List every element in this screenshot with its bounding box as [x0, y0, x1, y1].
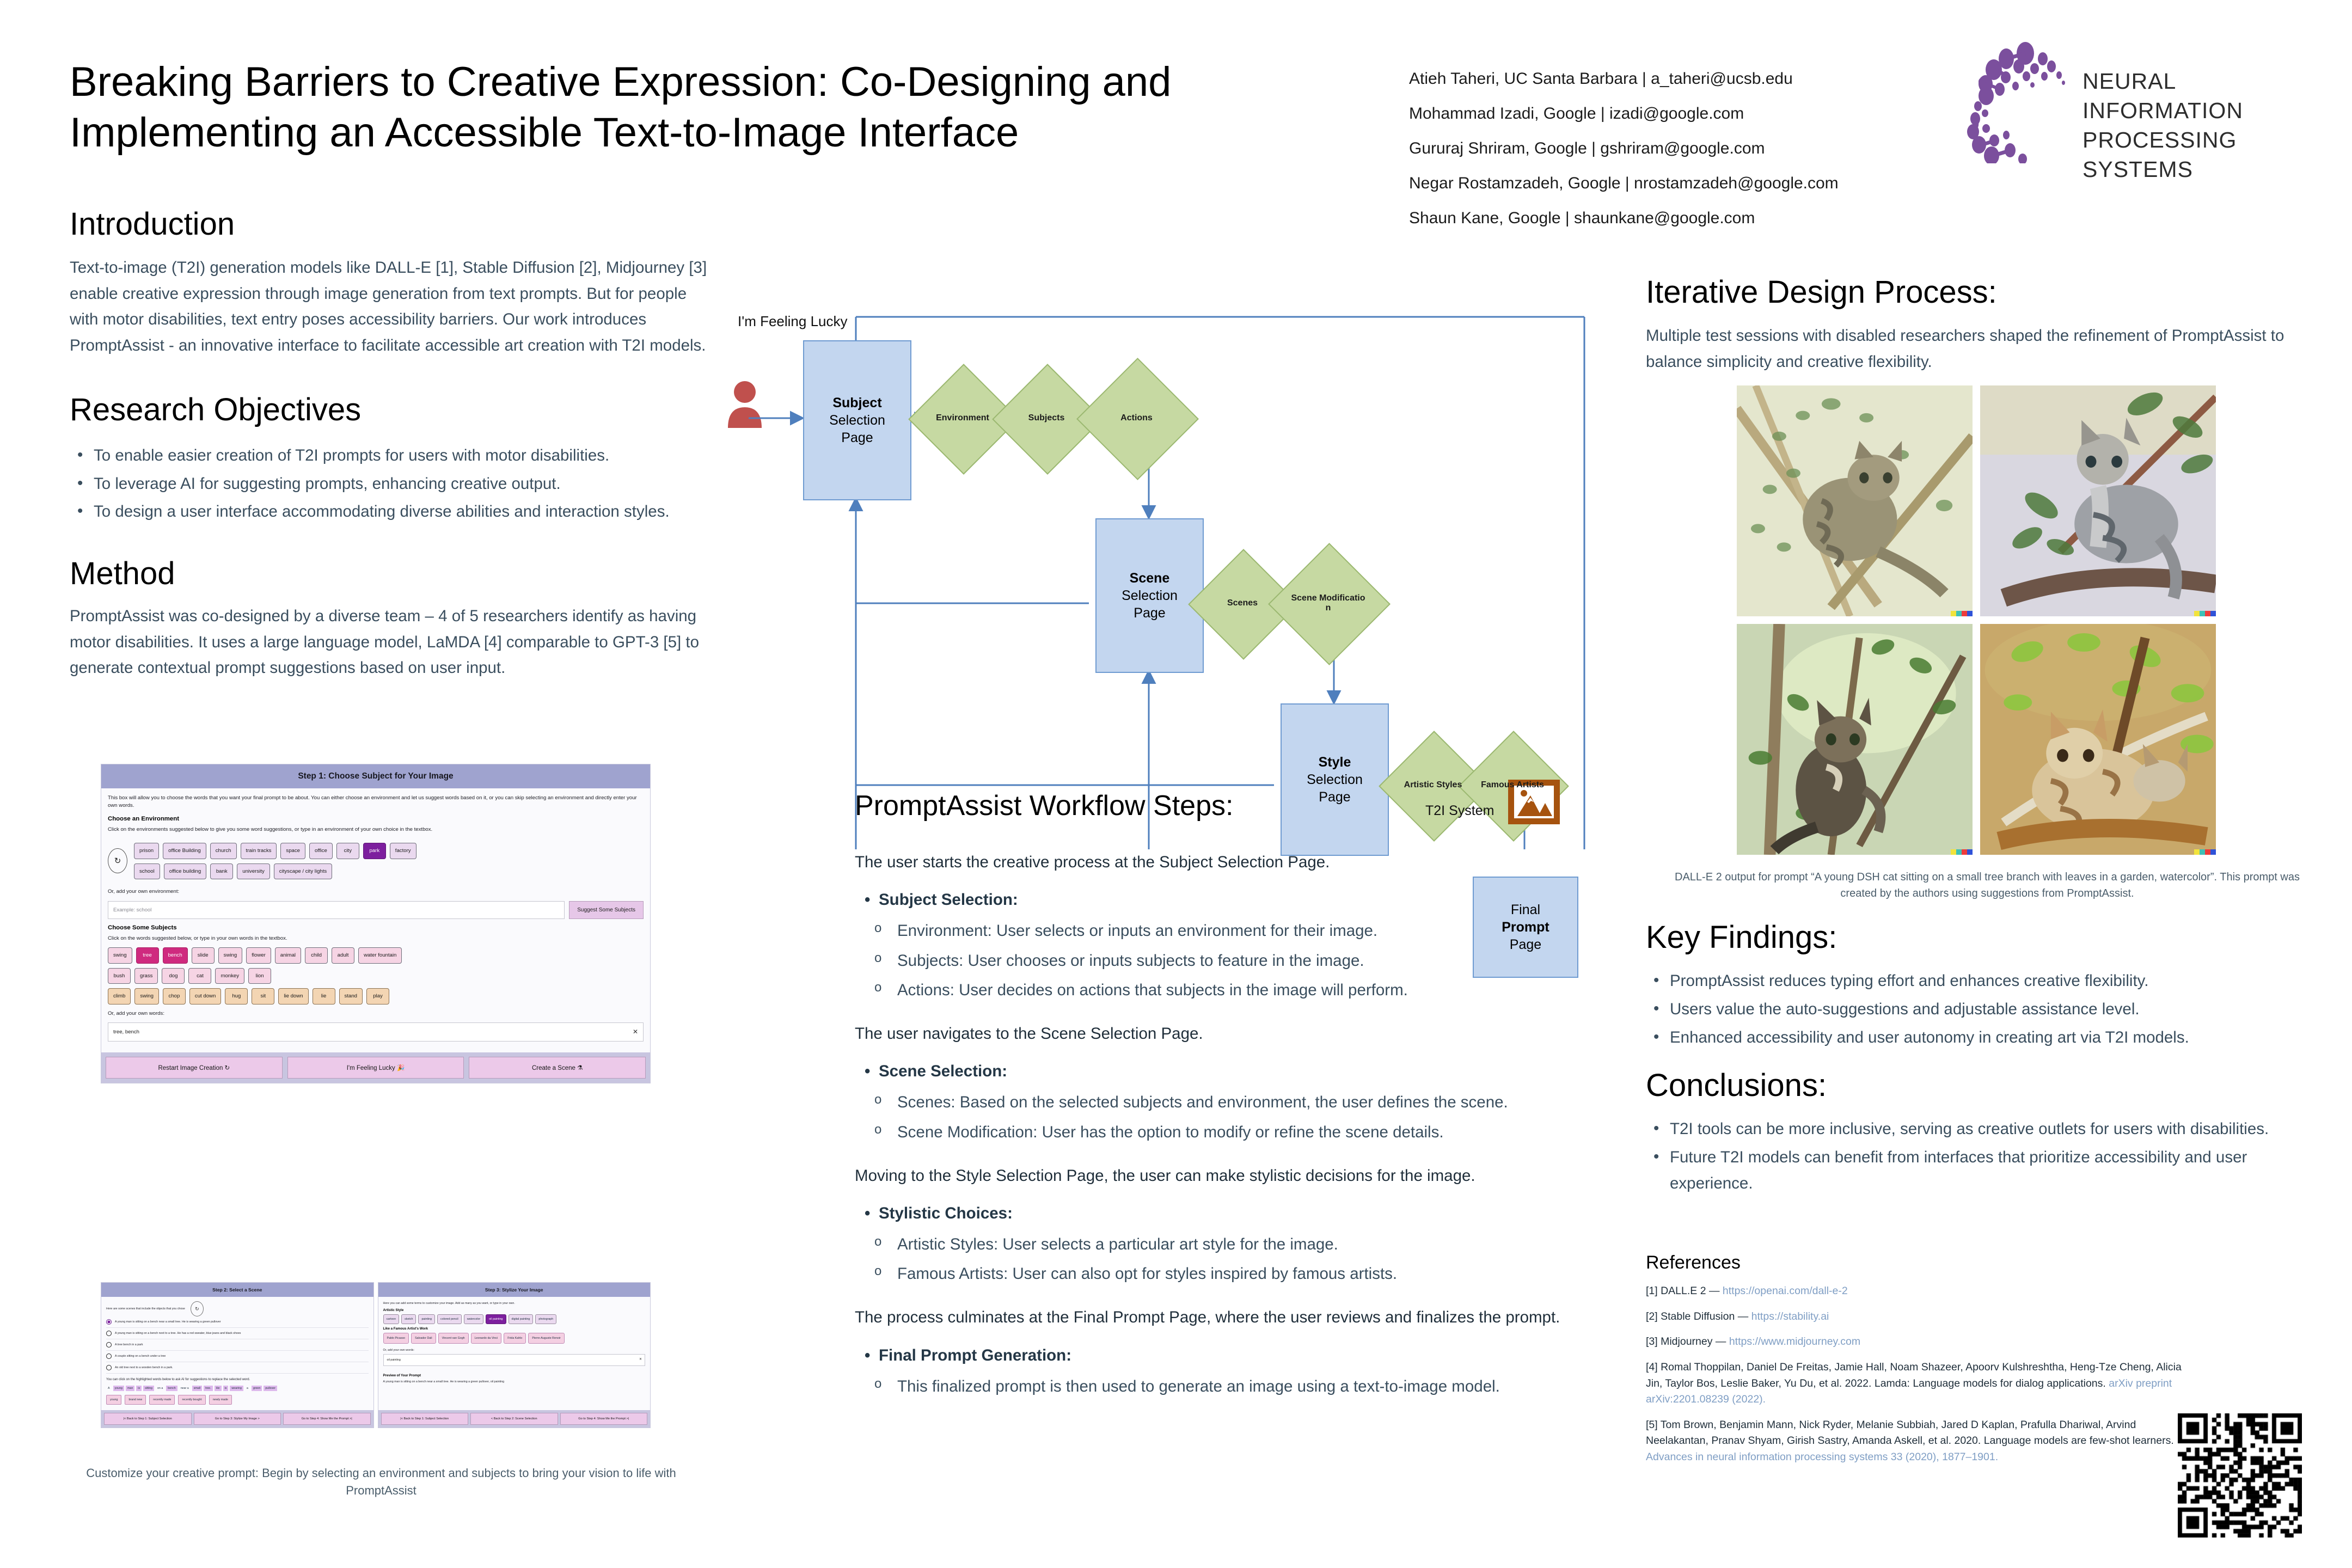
environment-chip[interactable]: space: [280, 843, 305, 859]
workflow-bullet: Stylistic Choices:: [855, 1200, 1573, 1226]
step1-intro: This box will allow you to choose the wo…: [108, 794, 644, 810]
scene-label: A young man is sitting on a bench next t…: [115, 1331, 241, 1336]
radio-icon[interactable]: [106, 1353, 112, 1359]
node-title: Style: [1319, 754, 1351, 771]
prompt-token[interactable]: small: [192, 1386, 202, 1391]
reference-link[interactable]: https://openai.com/dall-e-2: [1723, 1285, 1848, 1297]
style-chip[interactable]: watercolor: [464, 1314, 483, 1324]
reference-item: [2] Stable Diffusion — https://stability…: [1646, 1309, 2190, 1325]
environment-chip[interactable]: university: [237, 863, 270, 880]
decision-label: Actions: [1118, 413, 1155, 423]
author-line: Mohammad Izadi, Google | izadi@google.co…: [1409, 106, 1953, 122]
list-item: Enhanced accessibility and user autonomy…: [1646, 1025, 2307, 1051]
node-line2: Selection: [1122, 587, 1178, 604]
node-subject-selection-page: Subject Selection Page: [803, 340, 911, 500]
logo-line-1: NEURAL INFORMATION: [2082, 66, 2319, 125]
scene-option[interactable]: A tree bench in a park: [106, 1339, 369, 1351]
workflow-sub: Scene Modification: User has the option …: [855, 1119, 1573, 1145]
style-chip[interactable]: cartoon: [383, 1314, 400, 1324]
radio-icon[interactable]: [106, 1319, 112, 1325]
step2-intro: Here are some scenes that include the ob…: [106, 1307, 185, 1311]
dalle-signature-icon: [2194, 849, 2216, 855]
action-chip[interactable]: lie: [313, 988, 335, 1004]
right-column: Iterative Design Process: Multiple test …: [1646, 275, 2307, 375]
list-item: T2I tools can be more inclusive, serving…: [1646, 1116, 2294, 1142]
dalle-image: [1737, 385, 1973, 616]
back-to-step1-button[interactable]: |< Back to Step 1: Subject Selection: [381, 1413, 469, 1425]
t2i-system-label: T2I System: [1425, 803, 1494, 819]
workflow-sub: Famous Artists: User can also opt for st…: [855, 1261, 1573, 1287]
logo-line-2: PROCESSING SYSTEMS: [2082, 125, 2319, 184]
author-list: Atieh Taheri, UC Santa Barbara | a_taher…: [1409, 71, 1953, 245]
subject-chip[interactable]: grass: [134, 968, 158, 984]
radio-icon[interactable]: [106, 1365, 112, 1370]
decision-label: Artistic Styles: [1402, 780, 1465, 790]
list-item: To design a user interface accommodating…: [70, 499, 718, 525]
famous-artist-chip-row: Pablo Picasso Salvador Dali Vincent van …: [383, 1333, 646, 1344]
dalle-signature-icon: [1951, 849, 1973, 855]
subject-chip[interactable]: child: [305, 947, 328, 964]
prompt-token-row: A young man is sitting on a bench near a…: [106, 1386, 369, 1391]
decision-environment: Environment: [924, 380, 1001, 456]
list-item: PromptAssist reduces typing effort and e…: [1646, 968, 2307, 994]
list-item: Future T2I models can benefit from inter…: [1646, 1144, 2294, 1197]
subject-chip[interactable]: swing: [108, 947, 132, 964]
scene-label: A tree bench in a park: [115, 1343, 143, 1347]
style-chip[interactable]: digital painting: [509, 1314, 534, 1324]
decision-scene-modification: Scene Modificatio n: [1286, 561, 1370, 645]
subject-chip[interactable]: flower: [246, 947, 271, 964]
prompt-token: a: [245, 1386, 250, 1391]
subject-chip[interactable]: slide: [192, 947, 215, 964]
clear-icon[interactable]: ✕: [633, 1028, 638, 1036]
prompt-token[interactable]: wearing: [230, 1386, 243, 1391]
artistic-style-chip-row: cartoon sketch painting colored pencil w…: [383, 1314, 646, 1324]
subject-chip[interactable]: cat: [188, 968, 211, 984]
prompt-token: on a: [156, 1386, 164, 1391]
artist-chip[interactable]: Pablo Picasso: [383, 1333, 409, 1344]
style-chip[interactable]: photograph: [535, 1314, 556, 1324]
prompt-token[interactable]: bench: [166, 1386, 177, 1391]
step3-own-words-value: oil painting: [387, 1358, 401, 1362]
own-words-input[interactable]: tree, bench ✕: [108, 1022, 644, 1042]
conclusions-heading: Conclusions:: [1646, 1068, 1827, 1103]
page-title: Breaking Barriers to Creative Expression…: [70, 57, 1338, 158]
decision-label: Famous Artists: [1479, 780, 1546, 790]
famous-artist-heading: Like a Famous Artist's Work: [383, 1327, 646, 1331]
iterative-design-body: Multiple test sessions with disabled res…: [1646, 323, 2307, 375]
author-line: Gururaj Shriram, Google | gshriram@googl…: [1409, 140, 1953, 157]
promptassist-step2-panel: Step 2: Select a Scene Here are some sce…: [101, 1282, 374, 1428]
step3-nav-row: |< Back to Step 1: Subject Selection < B…: [378, 1410, 651, 1428]
highlight-help: You can click on the highlighted words b…: [106, 1377, 369, 1382]
reference-link[interactable]: Advances in neural information processin…: [1646, 1451, 1998, 1463]
workflow-sub: This finalized prompt is then used to ge…: [855, 1374, 1573, 1399]
list-item: To leverage AI for suggesting prompts, e…: [70, 471, 718, 497]
reference-link[interactable]: https://stability.ai: [1751, 1310, 1829, 1322]
promptassist-step3-panel: Step 3: Stylize Your Image Here you can …: [378, 1282, 651, 1428]
reference-item: [1] DALL.E 2 — https://openai.com/dall-e…: [1646, 1283, 2190, 1300]
action-chip[interactable]: play: [366, 988, 389, 1004]
prompt-token[interactable]: young: [113, 1386, 124, 1391]
im-feeling-lucky-button[interactable]: I'm Feeling Lucky 🎉: [287, 1057, 464, 1079]
back-to-step1-button[interactable]: |< Back to Step 1: Subject Selection: [104, 1413, 192, 1425]
subject-chip[interactable]: monkey: [215, 968, 244, 984]
introduction-body: Text-to-image (T2I) generation models li…: [70, 255, 718, 359]
clear-icon[interactable]: ✕: [639, 1357, 642, 1361]
word-suggestion-chip[interactable]: newly made: [209, 1395, 232, 1405]
artist-chip[interactable]: Pierre-Auguste Renoir: [528, 1333, 564, 1344]
reference-text: [2] Stable Diffusion —: [1646, 1310, 1751, 1322]
word-suggestion-chip[interactable]: recently bought: [178, 1395, 205, 1405]
poster-root: Breaking Barriers to Creative Expression…: [0, 0, 2352, 1568]
subject-chip-selected[interactable]: tree: [136, 947, 159, 964]
node-title: Scene: [1130, 569, 1170, 587]
step1-nav-row: Restart Image Creation ↻ I'm Feeling Luc…: [101, 1052, 650, 1083]
dalle-signature-icon: [1951, 611, 1973, 616]
decision-actions: Actions: [1094, 376, 1179, 460]
workflow-lead: The user starts the creative process at …: [855, 849, 1573, 875]
ui-mock-caption: Customize your creative prompt: Begin by…: [82, 1465, 681, 1499]
decision-label: Environment: [934, 413, 991, 423]
environment-chip[interactable]: factory: [390, 843, 416, 859]
workflow-sub: Artistic Styles: User selects a particul…: [855, 1232, 1573, 1257]
scene-label: A couple sitting on a bench under a tree: [115, 1354, 166, 1358]
dalle-image-grid: [1737, 385, 2216, 855]
neurips-logo-text: NEURAL INFORMATION PROCESSING SYSTEMS: [2082, 66, 2319, 184]
word-suggestion-row: young brand new recently made recently b…: [106, 1395, 369, 1405]
key-findings-list: PromptAssist reduces typing effort and e…: [1646, 968, 2307, 1052]
promptassist-step1-panel: Step 1: Choose Subject for Your Image Th…: [101, 764, 651, 1083]
action-chip[interactable]: climb: [108, 988, 131, 1004]
reference-text: [4] Romal Thoppilan, Daniel De Freitas, …: [1646, 1361, 2182, 1389]
reference-item: [3] Midjourney — https://www.midjourney.…: [1646, 1334, 2190, 1350]
dalle-signature-icon: [2194, 611, 2216, 616]
dalle-image-caption: DALL-E 2 output for prompt “A young DSH …: [1671, 869, 2303, 902]
environment-chip[interactable]: bank: [210, 863, 233, 880]
im-feeling-lucky-label: I'm Feeling Lucky: [738, 313, 848, 330]
workflow-sub: Subjects: User chooses or inputs subject…: [855, 948, 1573, 973]
scene-option[interactable]: A young man is sitting on a bench next t…: [106, 1328, 369, 1339]
step3-own-words-label: Or, add your own words:: [383, 1348, 646, 1352]
node-style-selection-page: Style Selection Page: [1281, 703, 1389, 856]
decision-subjects: Subjects: [1008, 380, 1085, 456]
own-environment-label: Or, add your own environment:: [108, 888, 644, 896]
step3-intro: Here you can add some terms to customize…: [383, 1301, 646, 1306]
subjects-help: Click on the words suggested below, or t…: [108, 935, 644, 942]
prompt-token[interactable]: tree.: [204, 1386, 213, 1391]
environment-chip[interactable]: train tracks: [241, 843, 277, 859]
workflow-lead: Moving to the Style Selection Page, the …: [855, 1163, 1573, 1189]
environment-chip[interactable]: cityscape / city lights: [274, 863, 332, 880]
method-heading: Method: [70, 556, 718, 591]
artistic-style-heading: Artistic Style: [383, 1308, 646, 1312]
artist-chip[interactable]: Frida Kahlo: [504, 1333, 526, 1344]
refresh-scenes-icon[interactable]: ↻: [191, 1301, 204, 1316]
dalle-image: [1980, 385, 2216, 616]
subject-chip[interactable]: bush: [108, 968, 131, 984]
objectives-heading: Research Objectives: [70, 393, 718, 427]
restart-image-creation-button[interactable]: Restart Image Creation ↻: [106, 1057, 283, 1079]
workflow-lead: The user navigates to the Scene Selectio…: [855, 1021, 1573, 1046]
objectives-list: To enable easier creation of T2I prompts…: [70, 443, 718, 525]
style-chip[interactable]: colored pencil: [437, 1314, 462, 1324]
word-suggestion-chip[interactable]: young: [106, 1395, 121, 1405]
create-a-scene-button[interactable]: Create a Scene ⚗: [469, 1057, 646, 1079]
prompt-token[interactable]: is: [223, 1386, 229, 1391]
node-title: Subject: [832, 394, 881, 412]
scene-option[interactable]: An old tree next to a wooden bench in a …: [106, 1362, 369, 1374]
step2-nav-row: |< Back to Step 1: Subject Selection Go …: [101, 1410, 373, 1428]
style-chip[interactable]: sketch: [401, 1314, 416, 1324]
author-line: Negar Rostamzadeh, Google | nrostamzadeh…: [1409, 175, 1953, 192]
node-line3: Page: [1134, 604, 1165, 622]
subject-chip-row-2: bush grass dog cat monkey lion: [108, 968, 644, 984]
prompt-token[interactable]: He: [215, 1386, 222, 1391]
radio-icon[interactable]: [106, 1331, 112, 1336]
environment-chip[interactable]: office building: [164, 863, 207, 880]
environment-chip[interactable]: office: [309, 843, 333, 859]
decision-label: Scenes: [1225, 598, 1260, 608]
author-line: Shaun Kane, Google | shaunkane@google.co…: [1409, 210, 1953, 226]
preview-heading: Preview of Your Prompt: [383, 1374, 646, 1377]
workflow-lead: The process culminates at the Final Prom…: [855, 1304, 1573, 1330]
workflow-heading: PromptAssist Workflow Steps:: [855, 789, 1233, 822]
step3-own-words-input[interactable]: oil painting ✕: [383, 1354, 646, 1366]
prompt-token[interactable]: is: [136, 1386, 142, 1391]
own-words-label: Or, add your own words:: [108, 1010, 644, 1018]
prompt-token: near a: [179, 1386, 191, 1391]
preview-text: A young man is sitting on a bench near a…: [383, 1380, 646, 1384]
iterative-design-heading: Iterative Design Process:: [1646, 275, 2307, 310]
prompt-token[interactable]: green: [252, 1386, 262, 1391]
subject-chip-selected[interactable]: bench: [163, 947, 188, 964]
style-chip[interactable]: painting: [418, 1314, 435, 1324]
go-to-step3-button[interactable]: Go to Step 3: Stylize My Image >: [194, 1413, 281, 1425]
workflow-sub: Environment: User selects or inputs an e…: [855, 918, 1573, 944]
prompt-token: A: [106, 1386, 112, 1391]
artist-chip[interactable]: Salvador Dali: [411, 1333, 436, 1344]
dalle-image: [1980, 624, 2216, 855]
list-item: To enable easier creation of T2I prompts…: [70, 443, 718, 469]
introduction-heading: Introduction: [70, 207, 718, 242]
author-line: Atieh Taheri, UC Santa Barbara | a_taher…: [1409, 71, 1953, 87]
environment-chip[interactable]: office Building: [163, 843, 206, 859]
choose-environment-heading: Choose an Environment: [108, 816, 644, 822]
action-chip[interactable]: lie down: [278, 988, 308, 1004]
workflow-steps: The user starts the creative process at …: [855, 849, 1573, 1403]
node-line3: Page: [1319, 788, 1350, 806]
subject-chip[interactable]: water fountain: [358, 947, 402, 964]
word-suggestion-chip[interactable]: brand new: [125, 1395, 146, 1405]
choose-subjects-heading: Choose Some Subjects: [108, 924, 644, 931]
subject-chip[interactable]: swing: [218, 947, 243, 964]
action-chip[interactable]: chop: [163, 988, 186, 1004]
qr-code[interactable]: [2178, 1413, 2302, 1538]
decision-label: Scene Modificatio n: [1286, 593, 1370, 613]
go-to-step4-button[interactable]: Go to Step 4: Show Me the Prompt >|: [283, 1413, 371, 1425]
action-chip[interactable]: swing: [134, 988, 159, 1004]
promptassist-step23-panels: Step 2: Select a Scene Here are some sce…: [101, 1282, 651, 1428]
left-column: Introduction Text-to-image (T2I) generat…: [70, 207, 718, 681]
prompt-token[interactable]: sitting: [143, 1386, 154, 1391]
back-to-step2-button[interactable]: < Back to Step 2: Scene Selection: [470, 1413, 558, 1425]
workflow-diagram: Subject Selection Page Scene Selection P…: [708, 283, 1612, 849]
neurips-mark-icon: [1960, 38, 2085, 163]
radio-icon[interactable]: [106, 1342, 112, 1347]
action-chip[interactable]: stand: [339, 988, 363, 1004]
reference-text: [5] Tom Brown, Benjamin Mann, Nick Ryder…: [1646, 1419, 2174, 1447]
list-item: Users value the auto-suggestions and adj…: [1646, 996, 2307, 1022]
scene-option[interactable]: A couple sitting on a bench under a tree: [106, 1351, 369, 1362]
prompt-token[interactable]: pullover: [264, 1386, 277, 1391]
artist-chip[interactable]: Vincent van Gogh: [438, 1333, 469, 1344]
environment-chip-row-1: prison office Building church train trac…: [134, 843, 644, 859]
environment-input-row: Example: school Suggest Some Subjects: [108, 901, 644, 919]
prompt-token[interactable]: man: [126, 1386, 134, 1391]
action-chip-row: climb swing chop cut down hug sit lie do…: [108, 988, 644, 1004]
references-heading: References: [1646, 1252, 2190, 1273]
reference-link[interactable]: https://www.midjourney.com: [1729, 1336, 1860, 1347]
style-chip-selected[interactable]: oil painting: [486, 1314, 506, 1324]
environment-input[interactable]: Example: school: [108, 901, 565, 919]
action-chip[interactable]: hug: [225, 988, 248, 1004]
subject-chip-row-1: swing tree bench slide swing flower anim…: [108, 947, 644, 964]
subject-chip[interactable]: lion: [248, 968, 271, 984]
subject-chip[interactable]: adult: [332, 947, 354, 964]
environment-chip[interactable]: prison: [134, 843, 159, 859]
reference-text: [3] Midjourney —: [1646, 1336, 1729, 1347]
suggest-subjects-button[interactable]: Suggest Some Subjects: [569, 901, 644, 919]
scene-label: An old tree next to a wooden bench in a …: [115, 1365, 173, 1370]
subject-chip[interactable]: dog: [162, 968, 185, 984]
refresh-environments-icon[interactable]: ↻: [108, 848, 127, 873]
scene-option[interactable]: A young man is sitting on a bench near a…: [106, 1316, 369, 1328]
environment-chip-selected[interactable]: park: [363, 843, 386, 859]
workflow-bullet: Final Prompt Generation:: [855, 1343, 1573, 1368]
workflow-bullet: Scene Selection:: [855, 1058, 1573, 1084]
action-chip[interactable]: cut down: [189, 988, 221, 1004]
method-body: PromptAssist was co-designed by a divers…: [70, 603, 718, 681]
neurips-logo: NEURAL INFORMATION PROCESSING SYSTEMS: [1960, 38, 2319, 163]
step3-header: Step 3: Stylize Your Image: [378, 1283, 651, 1297]
reference-item: [5] Tom Brown, Benjamin Mann, Nick Ryder…: [1646, 1417, 2190, 1466]
conclusions-list: T2I tools can be more inclusive, serving…: [1646, 1116, 2294, 1198]
environment-chip[interactable]: school: [134, 863, 160, 880]
scene-label: A young man is sitting on a bench near a…: [115, 1320, 221, 1324]
workflow-bullet: Subject Selection:: [855, 887, 1573, 912]
decision-label: Subjects: [1026, 413, 1067, 423]
step2-header: Step 2: Select a Scene: [101, 1283, 373, 1297]
subject-chip[interactable]: animal: [275, 947, 301, 964]
environment-help: Click on the environments suggested belo…: [108, 826, 644, 834]
word-suggestion-chip[interactable]: recently made: [149, 1395, 175, 1405]
environment-chip[interactable]: church: [210, 843, 237, 859]
references-section: References [1] DALL.E 2 — https://openai…: [1646, 1252, 2190, 1475]
artist-chip[interactable]: Leonardo da Vinci: [471, 1333, 502, 1344]
environment-chip-row-2: school office building bank university c…: [134, 863, 644, 880]
node-line2: Selection: [1307, 771, 1363, 788]
own-words-value: tree, bench: [113, 1029, 139, 1035]
key-findings-heading: Key Findings:: [1646, 920, 1837, 955]
action-chip[interactable]: sit: [252, 988, 274, 1004]
reference-item: [4] Romal Thoppilan, Daniel De Freitas, …: [1646, 1359, 2190, 1408]
node-line2: Selection: [829, 412, 885, 429]
node-scene-selection-page: Scene Selection Page: [1095, 518, 1204, 673]
environment-chip[interactable]: city: [336, 843, 359, 859]
workflow-sub: Scenes: Based on the selected subjects a…: [855, 1089, 1573, 1115]
node-line3: Page: [841, 429, 873, 446]
step1-header: Step 1: Choose Subject for Your Image: [101, 764, 650, 788]
reference-text: [1] DALL.E 2 —: [1646, 1285, 1723, 1297]
dalle-image: [1737, 624, 1973, 855]
go-to-step4-button[interactable]: Go to Step 4: Show Me the Prompt >|: [560, 1413, 648, 1425]
workflow-sub: Actions: User decides on actions that su…: [855, 977, 1573, 1003]
